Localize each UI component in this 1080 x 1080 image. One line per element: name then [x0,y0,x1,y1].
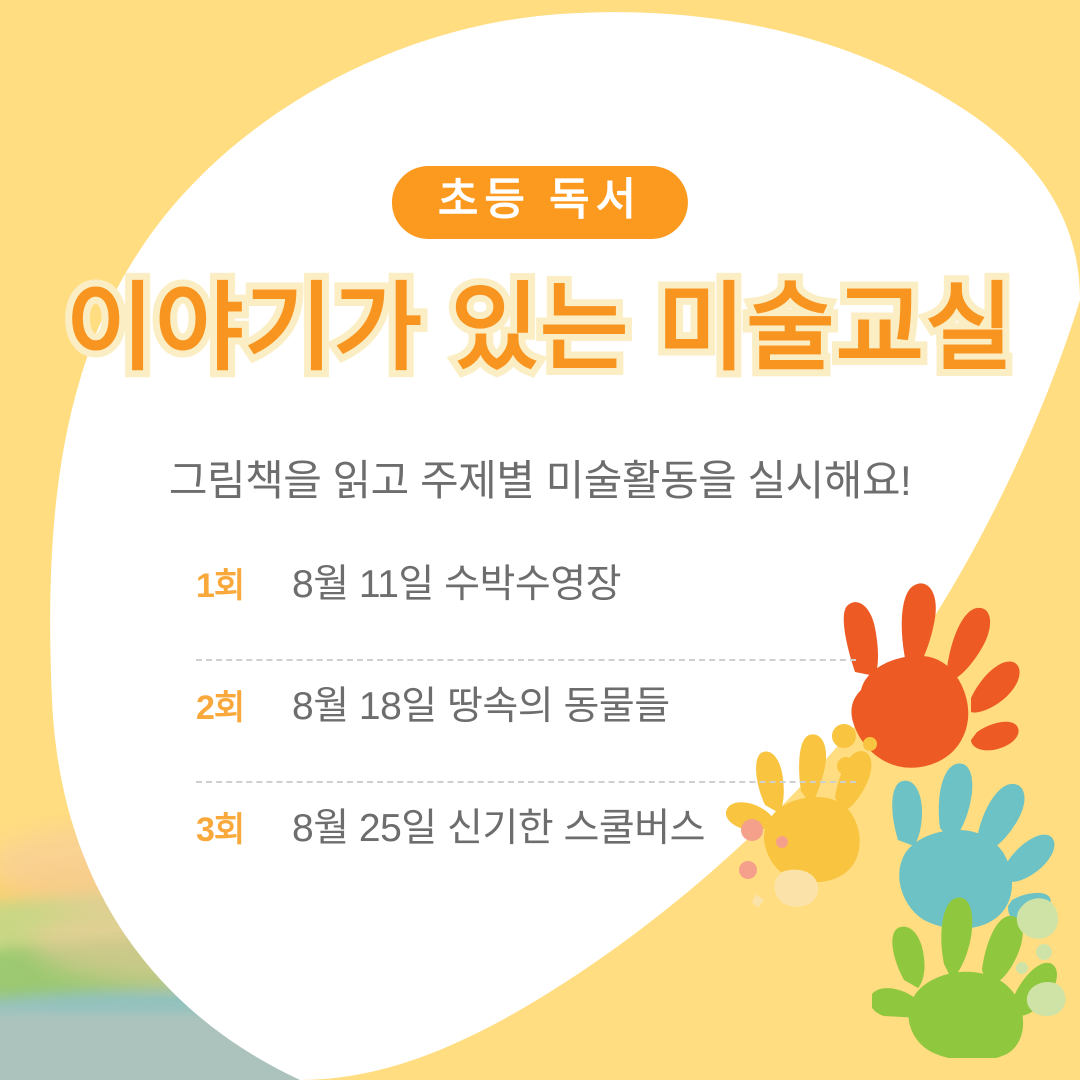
session-number: 2회 [196,691,292,725]
session-number: 1회 [196,569,292,603]
category-badge: 초등 독서 [392,166,688,239]
schedule-row-2: 2회 8월 18일 땅속의 동물들 [196,687,856,755]
row-spacer [196,633,856,659]
white-blob-mask [0,0,1080,1080]
session-detail: 8월 11일 수박수영장 [292,565,621,604]
schedule-list: 1회 8월 11일 수박수영장 2회 8월 18일 땅속의 동물들 3회 8월 … [196,565,856,877]
page-title: 이야기가 있는 미술교실 [35,272,1045,385]
session-detail: 8월 25일 신기한 스쿨버스 [292,809,705,848]
row-spacer [196,755,856,781]
row-spacer [196,783,856,809]
schedule-row-1: 1회 8월 11일 수박수영장 [196,565,856,633]
poster-canvas: 초등 독서 이야기가 있는 미술교실 그림책을 읽고 주제별 미술활동을 실시해… [0,0,1080,1080]
schedule-row-3: 3회 8월 25일 신기한 스쿨버스 [196,809,856,877]
subtitle: 그림책을 읽고 주제별 미술활동을 실시해요! [60,452,1020,511]
session-number: 3회 [196,813,292,847]
session-detail: 8월 18일 땅속의 동물들 [292,687,670,726]
row-spacer [196,661,856,687]
